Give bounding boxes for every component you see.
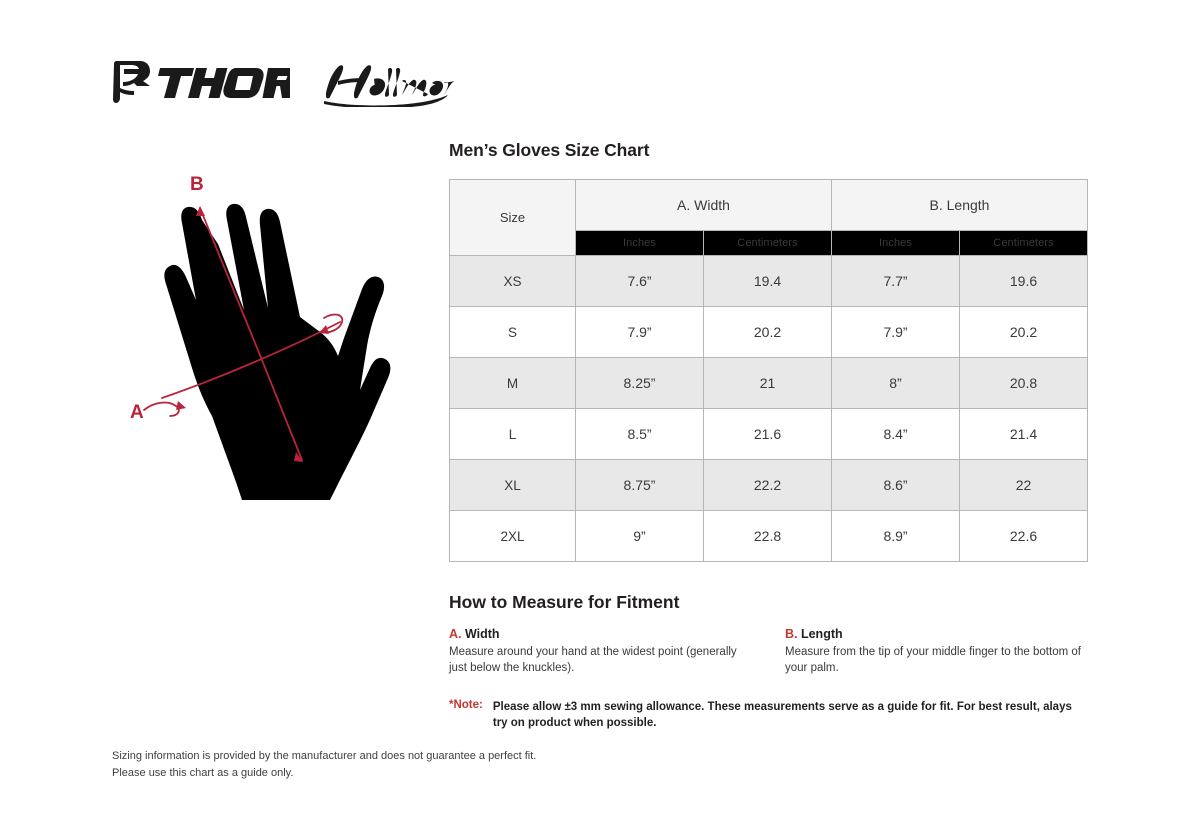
measure-item-width: A. Width Measure around your hand at the… [449, 627, 751, 677]
header-size: Size [450, 180, 576, 256]
cell-length-in: 7.9” [832, 307, 960, 358]
measure-width-description: Measure around your hand at the widest p… [449, 644, 751, 677]
table-row: 2XL 9” 22.8 8.9” 22.6 [450, 511, 1088, 562]
cell-width-in: 7.6” [576, 256, 704, 307]
footer-disclaimer: Sizing information is provided by the ma… [112, 748, 536, 782]
hallman-logo [316, 59, 456, 107]
cell-length-in: 8.9” [832, 511, 960, 562]
cell-length-cm: 19.6 [960, 256, 1088, 307]
cell-length-in: 8.4” [832, 409, 960, 460]
table-row: M 8.25” 21 8” 20.8 [450, 358, 1088, 409]
header-group-length: B. Length [832, 180, 1088, 231]
chart-panel: Men’s Gloves Size Chart Size A. Width B.… [449, 140, 1087, 732]
footer-line-1: Sizing information is provided by the ma… [112, 748, 536, 765]
footer-line-2: Please use this chart as a guide only. [112, 765, 536, 782]
size-chart-table: Size A. Width B. Length Inches Centimete… [449, 179, 1088, 562]
measure-width-name: Width [462, 627, 500, 641]
width-arrow-head-right [319, 325, 329, 334]
cell-size: XL [450, 460, 576, 511]
cell-size: L [450, 409, 576, 460]
header-width-inches: Inches [576, 231, 704, 256]
measure-width-letter: A. [449, 627, 462, 641]
header-width-centimeters: Centimeters [704, 231, 832, 256]
width-arrow-curl-left [144, 403, 179, 416]
header-length-inches: Inches [832, 231, 960, 256]
thor-logo [110, 58, 290, 108]
cell-width-in: 8.25” [576, 358, 704, 409]
cell-length-cm: 22 [960, 460, 1088, 511]
how-to-measure-title: How to Measure for Fitment [449, 592, 1087, 613]
cell-width-in: 9” [576, 511, 704, 562]
note-label: *Note: [449, 699, 483, 711]
diagram-label-a: A [130, 402, 144, 423]
cell-width-in: 8.5” [576, 409, 704, 460]
measure-width-heading: A. Width [449, 627, 751, 641]
cell-length-in: 7.7” [832, 256, 960, 307]
measure-length-heading: B. Length [785, 627, 1087, 641]
cell-size: XS [450, 256, 576, 307]
cell-size: M [450, 358, 576, 409]
header-length-centimeters: Centimeters [960, 231, 1088, 256]
brand-logo-bar [110, 52, 530, 114]
table-row: L 8.5” 21.6 8.4” 21.4 [450, 409, 1088, 460]
note-section: *Note: Please allow ±3 mm sewing allowan… [449, 699, 1087, 732]
cell-length-in: 8” [832, 358, 960, 409]
diagram-label-b: B [190, 174, 204, 195]
cell-length-in: 8.6” [832, 460, 960, 511]
table-header-row-groups: Size A. Width B. Length [450, 180, 1088, 231]
cell-length-cm: 22.6 [960, 511, 1088, 562]
cell-size: S [450, 307, 576, 358]
cell-width-cm: 21 [704, 358, 832, 409]
cell-length-cm: 20.2 [960, 307, 1088, 358]
measure-length-name: Length [798, 627, 843, 641]
cell-width-cm: 20.2 [704, 307, 832, 358]
cell-width-in: 7.9” [576, 307, 704, 358]
cell-length-cm: 20.8 [960, 358, 1088, 409]
cell-length-cm: 21.4 [960, 409, 1088, 460]
note-text: Please allow ±3 mm sewing allowance. The… [493, 699, 1081, 732]
cell-size: 2XL [450, 511, 576, 562]
width-arrow-head-left [176, 401, 186, 410]
table-row: S 7.9” 20.2 7.9” 20.2 [450, 307, 1088, 358]
page-title: Men’s Gloves Size Chart [449, 140, 1087, 161]
header-group-width: A. Width [576, 180, 832, 231]
how-to-measure-section: How to Measure for Fitment A. Width Meas… [449, 592, 1087, 677]
cell-width-cm: 21.6 [704, 409, 832, 460]
table-row: XS 7.6” 19.4 7.7” 19.6 [450, 256, 1088, 307]
cell-width-cm: 22.2 [704, 460, 832, 511]
measure-length-description: Measure from the tip of your middle fing… [785, 644, 1087, 677]
measure-item-length: B. Length Measure from the tip of your m… [785, 627, 1087, 677]
hand-measurement-diagram: B A [120, 160, 440, 540]
table-row: XL 8.75” 22.2 8.6” 22 [450, 460, 1088, 511]
cell-width-cm: 19.4 [704, 256, 832, 307]
cell-width-in: 8.75” [576, 460, 704, 511]
measure-length-letter: B. [785, 627, 798, 641]
cell-width-cm: 22.8 [704, 511, 832, 562]
